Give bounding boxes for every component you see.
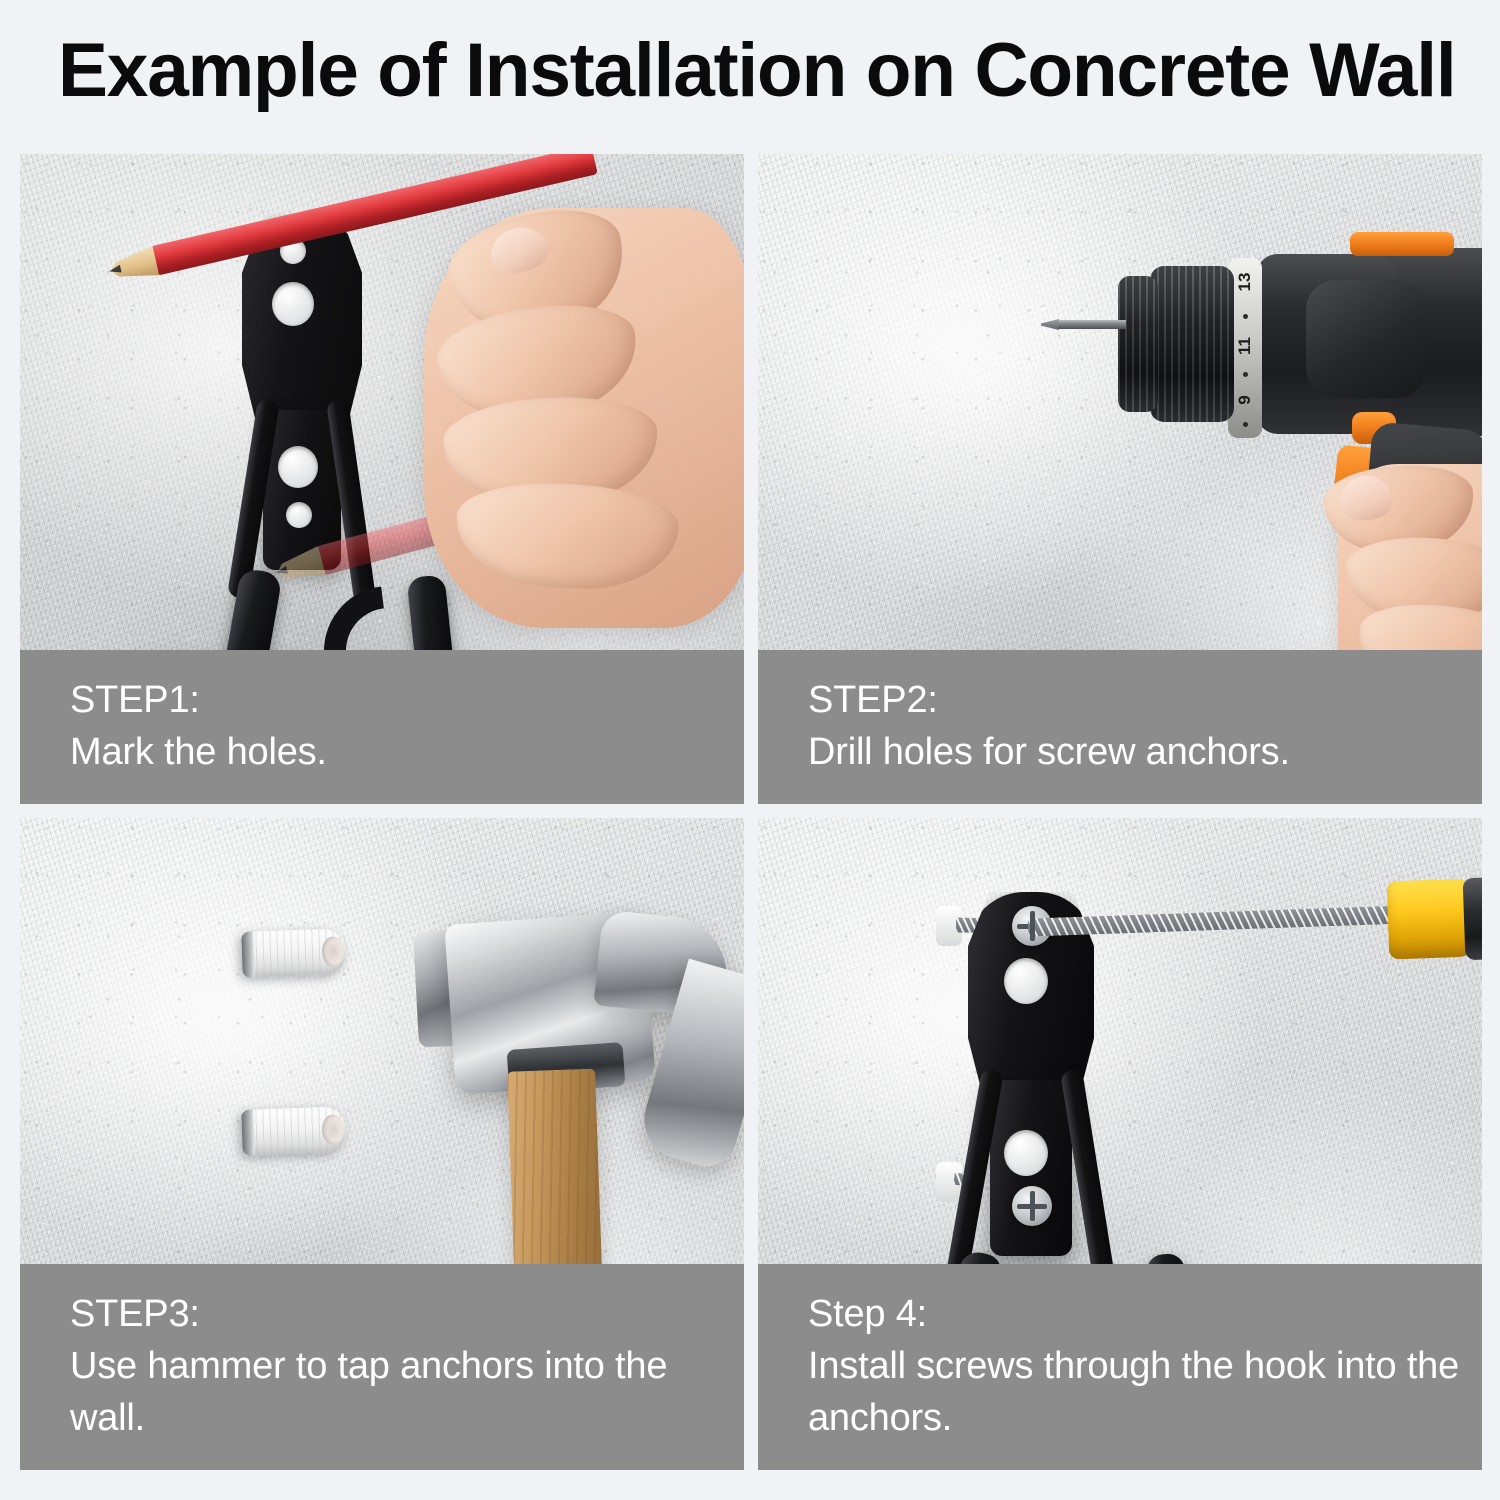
steps-grid: STEP1: Mark the holes. 13 [20, 154, 1482, 1470]
step-label-2: STEP2: [808, 674, 1482, 726]
screwdriver-handle [1463, 874, 1482, 960]
step-text-3: Use hammer to tap anchors into the wall. [70, 1340, 744, 1444]
screw-head-lower [1012, 1186, 1052, 1226]
step-panel-2: 13 11 9 [758, 154, 1482, 804]
hook-keyhole-lower [1004, 1130, 1048, 1176]
drill-chuck-nose [1118, 276, 1158, 412]
step-label-1: STEP1: [70, 674, 744, 726]
clutch-number-13: 13 [1235, 261, 1255, 303]
drill-bit [1056, 320, 1126, 329]
page-title: Example of Installation on Concrete Wall [58, 28, 1437, 114]
step-caption-2: STEP2: Drill holes for screw anchors. [758, 650, 1482, 804]
step-label-3: STEP3: [70, 1288, 744, 1340]
clutch-dot-1 [1243, 314, 1248, 319]
screwdriver-collar [1387, 879, 1476, 960]
step-caption-3: STEP3: Use hammer to tap anchors into th… [20, 1264, 744, 1470]
step-text-4: Install screws through the hook into the… [808, 1340, 1482, 1444]
step-text-2: Drill holes for screw anchors. [808, 726, 1482, 778]
clutch-number-9: 9 [1235, 381, 1255, 419]
step-panel-4: Step 4: Install screws through the hook … [758, 818, 1482, 1470]
step-text-1: Mark the holes. [70, 726, 744, 778]
wall-anchor-lower [241, 1106, 347, 1156]
clutch-number-11: 11 [1235, 325, 1255, 367]
hook-keyhole-lower [278, 446, 318, 488]
clutch-dot-2 [1243, 372, 1248, 377]
clutch-dot-3 [1243, 422, 1248, 427]
wall-anchor-upper [241, 928, 347, 978]
step-caption-1: STEP1: Mark the holes. [20, 650, 744, 804]
step-caption-4: Step 4: Install screws through the hook … [758, 1264, 1482, 1470]
hook-keyhole-upper [1004, 958, 1048, 1004]
step-label-4: Step 4: [808, 1288, 1482, 1340]
step-panel-1: STEP1: Mark the holes. [20, 154, 744, 804]
hook-keyhole-upper [272, 282, 314, 326]
drill-chuck [1150, 266, 1234, 422]
step-panel-3: STEP3: Use hammer to tap anchors into th… [20, 818, 744, 1470]
hook-mounting-hole-bottom [286, 502, 312, 528]
drill-side-panel [1306, 280, 1426, 398]
drill-top-accent [1350, 232, 1454, 256]
installation-guide-page: Example of Installation on Concrete Wall [0, 0, 1500, 1500]
